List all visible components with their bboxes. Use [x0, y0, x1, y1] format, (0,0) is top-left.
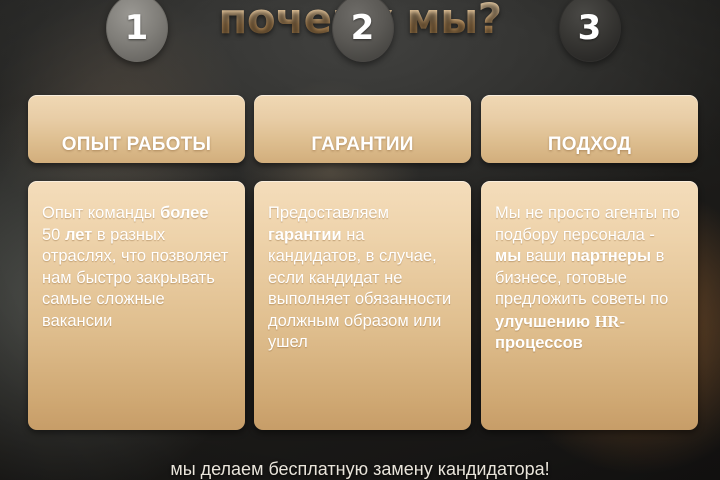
feature-header-card-2: ГАРАНТИИ: [254, 95, 471, 163]
feature-header-label-2: ГАРАНТИИ: [311, 134, 413, 156]
feature-body-card-2: Предоставляем гарантии на кандидатов, в …: [254, 181, 471, 430]
feature-body-text-1: Опыт команды более 50 лет в разных отрас…: [42, 203, 231, 332]
feature-header-label-3: ПОДХОД: [548, 134, 631, 156]
feature-body-text-2: Предоставляем гарантии на кандидатов, в …: [268, 203, 457, 354]
feature-header-card-1: ОПЫТ РАБОТЫ: [28, 95, 245, 163]
feature-header-card-3: ПОДХОД: [481, 95, 698, 163]
feature-header-label-1: ОПЫТ РАБОТЫ: [62, 134, 212, 156]
footer-tagline: мы делаем бесплатную замену кандидатора!: [0, 459, 720, 480]
feature-body-text-3: Мы не просто агенты по подбору персонала…: [495, 203, 684, 355]
feature-body-card-1: Опыт команды более 50 лет в разных отрас…: [28, 181, 245, 430]
feature-body-card-3: Мы не просто агенты по подбору персонала…: [481, 181, 698, 430]
